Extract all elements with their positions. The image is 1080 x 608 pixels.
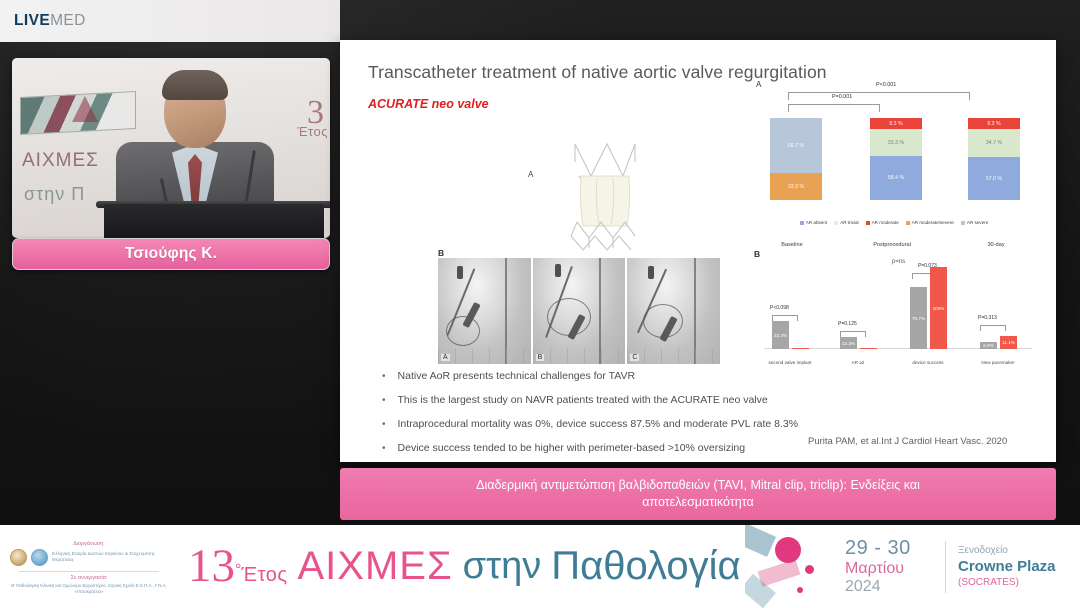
legend-label: AR trivial <box>840 220 858 225</box>
art-dot <box>805 565 814 574</box>
marker-device <box>648 266 654 279</box>
chart1-plot-area: 66.7 % 33.3 % Baseline 8.3 % 33.3 % <box>758 118 1032 200</box>
chart2-bar-label: 100% <box>933 306 945 311</box>
list-item: • This is the largest study on NAVR pati… <box>382 394 902 407</box>
chart1-pvalue-inner: P=0.001 <box>832 94 852 100</box>
chart2-bar-oversizing-high: 11.1% <box>1000 336 1017 349</box>
legend-swatch-icon <box>800 221 804 225</box>
chart1-panel-label: A <box>756 80 761 89</box>
chart2-bar-oversizing-high <box>792 348 809 349</box>
chart2-bracket-4 <box>980 325 1006 331</box>
bullet-dot-icon: • <box>382 394 386 407</box>
footer-date-month: Μαρτίου <box>845 560 945 578</box>
speaker-hair <box>162 70 228 100</box>
cooperation-caption: Σε συνεργασία: <box>71 575 108 581</box>
backdrop-edition-word: Έτος <box>297 124 328 139</box>
chart1-seg-label: 33.3 % <box>888 140 904 146</box>
bullet-text: Intraprocedural mortality was 0%, device… <box>398 418 799 431</box>
chart2-bar-oversizing-low: 13.3% <box>840 337 857 349</box>
chart2-group-device-success: 75.7% 100% <box>910 267 947 349</box>
legend-label: AR severe <box>967 220 988 225</box>
chart2-bar-oversizing-low: 6.6% <box>980 342 997 349</box>
marker-device <box>555 264 561 277</box>
marker-device <box>457 266 463 279</box>
art-dot <box>797 587 803 593</box>
chart2-bar-label: 11.1% <box>1002 340 1015 345</box>
chart1-seg-ar-moderate: 8.3 % <box>870 118 922 129</box>
speaker-video-panel[interactable]: ΑΙΧΜΕΣ στην Π 3 Έτος <box>12 58 330 238</box>
chart1-seg-label: 57.0 % <box>986 176 1002 182</box>
footer-edition-word: Έτος <box>241 564 287 586</box>
chart1-seg-label: 33.3 % <box>788 184 804 190</box>
footer-title-pathologia: Παθολογία <box>551 544 740 589</box>
legend-label: AR moderate/severe <box>912 220 954 225</box>
chart1-bar-baseline: 66.7 % 33.3 % <box>770 118 822 200</box>
chart1-seg-ar-absent: 66.7 % <box>770 118 822 173</box>
chart2-bar-oversizing-low: 33.3% <box>772 321 789 349</box>
chart1-bracket-inner <box>788 104 880 112</box>
chart1-bar-30day: 8.3 % 34.7 % 57.0 % <box>968 118 1020 200</box>
chart1-seg-ar-trivial: 34.7 % <box>968 129 1020 157</box>
footer-dates: 29 - 30 Μαρτίου 2024 <box>841 537 945 596</box>
speaker-name-badge: Τσιούφης Κ. <box>12 238 330 270</box>
session-title-bar: Διαδερμική αντιμετώπιση βαλβιδοπαθειών (… <box>340 468 1056 520</box>
rib-shadow <box>438 348 531 364</box>
rib-shadow <box>627 348 720 364</box>
guidewire-loop <box>547 298 591 336</box>
chart2-bar-label: 75.7% <box>912 316 925 321</box>
venue-label: Ξενοδοχείο <box>958 545 1080 556</box>
chart1-seg-ar-moderate-severe: 33.3 % <box>770 173 822 200</box>
fluoroscopy-image: C <box>627 258 720 364</box>
chart2-group-second-valve: 33.3% <box>772 321 809 349</box>
legend-swatch-icon <box>866 221 870 225</box>
chart1-seg-label: 58.4 % <box>888 175 904 181</box>
slide-bullet-list: • Native AoR presents technical challeng… <box>382 370 902 466</box>
footer-decorative-art <box>745 525 841 608</box>
legend-item: AR severe <box>961 220 988 225</box>
valve-device-figure: A <box>525 132 685 257</box>
fluoro-tag-c: C <box>630 354 639 361</box>
footer-date-days: 29 - 30 <box>845 537 945 560</box>
chart2-panel-label: B <box>754 249 760 259</box>
chart2-bar-oversizing-high: 100% <box>930 267 947 349</box>
cooperation-names: Β' Παθολογική Κλινική και Ομώνυμο Εργαστ… <box>10 583 168 595</box>
valve-panel-label: A <box>528 170 533 179</box>
backdrop-triangle-graphic <box>72 96 98 122</box>
venue-room: (SOCRATES) <box>958 577 1080 588</box>
backdrop-text-aixmes: ΑΙΧΜΕΣ <box>22 150 99 172</box>
presentation-slide[interactable]: Transcatheter treatment of native aortic… <box>340 40 1056 462</box>
livemed-logo-bar: LIVEMED <box>0 0 340 42</box>
footer-venue: Ξενοδοχείο Crowne Plaza (SOCRATES) <box>946 545 1080 588</box>
legend-item: AR trivial <box>834 220 858 225</box>
chart2-pvalue-2: P=0.125 <box>838 321 857 327</box>
footer-edition: 13°Έτος <box>188 543 287 590</box>
venue-name: Crowne Plaza <box>958 558 1080 575</box>
organizer-row: Ελληνική Εταιρία Δυστών Καρκίνου & Στοχε… <box>10 549 168 566</box>
rib-shadow <box>533 348 626 364</box>
bullet-text: This is the largest study on NAVR patien… <box>398 394 768 407</box>
session-title-line1: Διαδερμική αντιμετώπιση βαλβιδοπαθειών (… <box>476 478 920 492</box>
logo-live-text: LIVE <box>14 12 50 29</box>
chart2-xlabel-new-pacemaker: New pacemaker <box>964 360 1032 365</box>
bullet-text: Native AoR presents technical challenges… <box>398 370 636 383</box>
chart2-xlabel-device-success: device success <box>894 360 962 365</box>
livemed-logo: LIVEMED <box>14 12 86 30</box>
speaker-name-text: Τσιούφης Κ. <box>125 245 217 263</box>
fluoroscopy-panel-label: B <box>438 248 444 258</box>
podium <box>104 204 324 238</box>
organizer-names: Ελληνική Εταιρία Δυστών Καρκίνου & Στοχε… <box>52 551 168 563</box>
chart2-group-ar2: 13.3% <box>840 337 877 349</box>
legend-label: AR moderate <box>872 220 899 225</box>
chart1-seg-ar-moderate: 8.3 % <box>968 118 1020 129</box>
session-title-line2: αποτελεσματικότητα <box>642 495 753 509</box>
guidewire-loop <box>643 304 683 338</box>
chart2-pvalue-4: P=0.313 <box>978 315 997 321</box>
chart1-seg-label: 34.7 % <box>986 140 1002 146</box>
footer-event-title: 13°Έτος ΑΙΧΜΕΣ στην Παθολογία <box>176 543 745 590</box>
legend-label: AR absent <box>806 220 827 225</box>
legend-item: AR moderate/severe <box>906 220 954 225</box>
list-item: • Intraprocedural mortality was 0%, devi… <box>382 418 902 431</box>
legend-item: AR moderate <box>866 220 899 225</box>
fluoroscopy-image: B <box>533 258 626 364</box>
session-title-text: Διαδερμική αντιμετώπιση βαλβιδοπαθειών (… <box>476 477 920 511</box>
bullet-text: Device success tended to be higher with … <box>398 442 746 455</box>
footer-date-year: 2024 <box>845 578 945 596</box>
art-dot <box>775 537 801 563</box>
chart1-legend: AR absent AR trivial AR moderate AR mode… <box>756 220 1032 225</box>
chart1-seg-label: 8.3 % <box>987 121 1000 127</box>
broadcast-stage: LIVEMED ΑΙΧΜΕΣ στην Π 3 Έτος Τσιούφης Κ. <box>0 0 1080 525</box>
fluoro-tag-b: B <box>536 354 545 361</box>
bullet-dot-icon: • <box>382 418 386 431</box>
footer-divider <box>19 571 159 572</box>
slide-citation: Purita PAM, et al.Int J Cardiol Heart Va… <box>808 436 1007 447</box>
backdrop-text-stin: στην Π <box>24 184 85 205</box>
chart1-pvalue-overall: P<0.001 <box>876 82 896 88</box>
acurate-neo-valve-icon <box>567 132 643 252</box>
chart2-bar-label: 13.3% <box>842 341 855 346</box>
chart2-bar-label: 33.3% <box>774 333 787 338</box>
chart1-seg-label: 66.7 % <box>788 143 804 149</box>
art-shape <box>745 525 776 557</box>
chart1-seg-ar-absent: 58.4 % <box>870 156 922 200</box>
footer-organizers: Διοργάνωση: Ελληνική Εταιρία Δυστών Καρκ… <box>0 525 176 608</box>
chart1-seg-label: 8.3 % <box>889 121 902 127</box>
chart2-bar-oversizing-low: 75.7% <box>910 287 927 349</box>
footer-title-stin: στην <box>463 545 542 588</box>
society-seal-icon <box>10 549 27 566</box>
footer-edition-number: 13 <box>188 540 235 592</box>
legend-swatch-icon <box>906 221 910 225</box>
bullet-dot-icon: • <box>382 442 386 455</box>
guidewire-loop <box>446 316 480 346</box>
footer-title-aixmes: ΑΙΧΜΕΣ <box>297 544 452 589</box>
screen: LIVEMED ΑΙΧΜΕΣ στην Π 3 Έτος Τσιούφης Κ. <box>0 0 1080 608</box>
chart2-xlabel-ar2: AR ≥2 <box>824 360 892 365</box>
fluoroscopy-image: A <box>438 258 531 364</box>
chart1-seg-ar-trivial: 33.3 % <box>870 129 922 156</box>
chart2-pvalue-1: P<0.098 <box>770 305 789 311</box>
logo-med-text: MED <box>50 12 86 29</box>
bullet-dot-icon: • <box>382 370 386 383</box>
ar-grade-stacked-bar-chart: A P<0.001 P=0.001 66.7 % 33.3 % <box>750 80 1036 232</box>
legend-item: AR absent <box>800 220 827 225</box>
conference-footer: Διοργάνωση: Ελληνική Εταιρία Δυστών Καρκ… <box>0 525 1080 608</box>
chart2-pvalue-ns: p=ns <box>892 259 905 265</box>
chart2-group-new-pacemaker: 6.6% 11.1% <box>980 336 1017 349</box>
legend-swatch-icon <box>961 221 965 225</box>
chart2-bar-oversizing-high <box>860 348 877 349</box>
legend-swatch-icon <box>834 221 838 225</box>
society-emblem-icon <box>31 549 48 566</box>
chart2-bar-label: 6.6% <box>983 343 993 348</box>
chart1-bracket-overall <box>788 92 970 100</box>
fluoro-tag-a: A <box>441 354 450 361</box>
chart1-seg-ar-absent: 57.0 % <box>968 157 1020 200</box>
organizer-caption: Διοργάνωση: <box>73 541 104 547</box>
slide-subtitle: ACURATE neo valve <box>368 97 489 111</box>
chart2-xlabel-second-valve: second valve implant <box>756 360 824 365</box>
chart1-bar-postprocedural: 8.3 % 33.3 % 58.4 % <box>870 118 922 200</box>
list-item: • Native AoR presents technical challeng… <box>382 370 902 383</box>
fluoroscopy-image-strip: A B C <box>438 258 720 364</box>
chart2-plot-area: P<0.098 33.3% second valve implant P=0.1… <box>764 259 1032 367</box>
